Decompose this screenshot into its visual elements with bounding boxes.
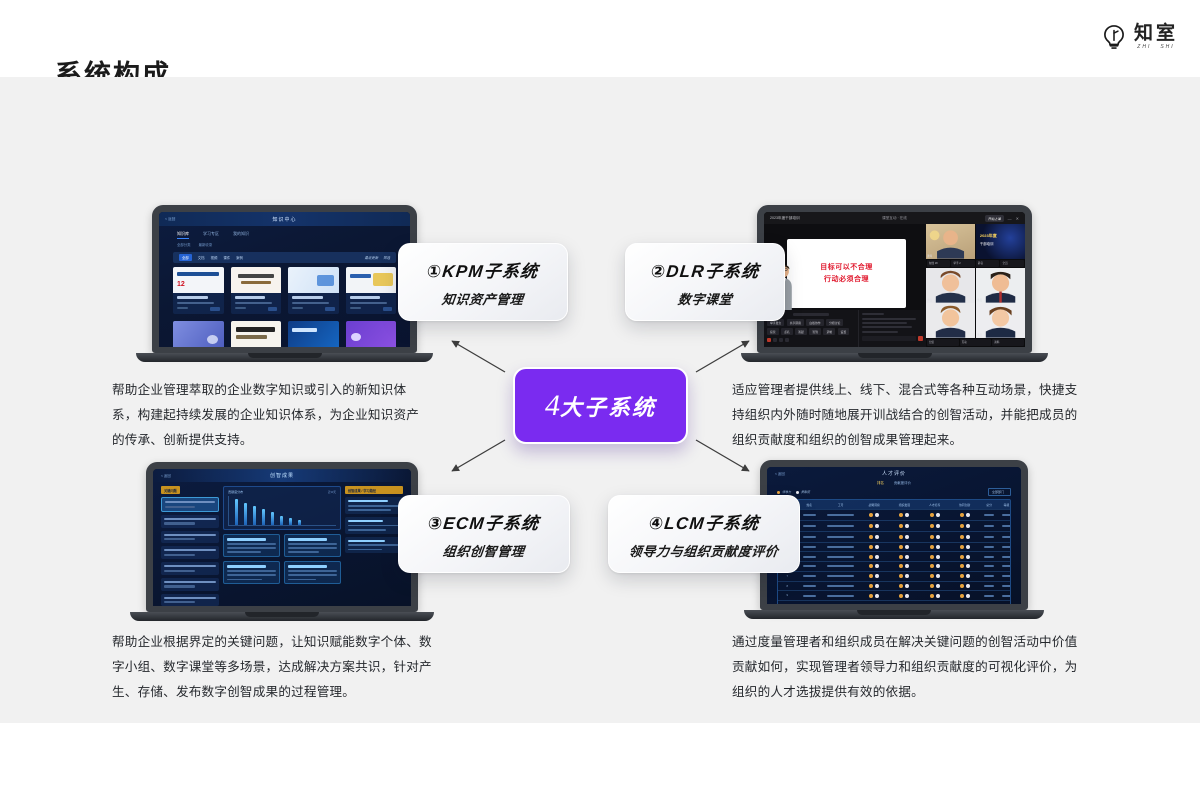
ecm-bar [253, 506, 256, 525]
lcm-table: 排名 姓名 工号 战略洞察 组织发展 人才培养 协同创新 总分 等级 45678… [777, 499, 1011, 610]
lcm-total-cell [980, 543, 999, 552]
center-badge-number: 4 [545, 389, 560, 422]
leadership-dot [960, 524, 964, 528]
contribution-dot [875, 564, 879, 568]
kpm-subtab-0[interactable]: 全部分类 [177, 242, 191, 247]
lcm-col-5: 人才培养 [919, 500, 949, 509]
ecm-result-card[interactable] [223, 534, 280, 557]
lcm-col-2: 工号 [822, 500, 859, 509]
ecm-right-item[interactable] [345, 537, 403, 554]
kpm-filter-chip-0[interactable]: 全部 [179, 254, 192, 261]
leadership-dot [899, 524, 903, 528]
kpm-filter-chip-1[interactable]: 文档 [198, 255, 205, 260]
record-icon[interactable] [767, 338, 771, 342]
laptop-lcm-lid: < 返回 人才评价 排名 贡献度评价 领导力 贡献度 全部部 [760, 460, 1028, 610]
brand-pinyin-right: SHI [1160, 45, 1174, 50]
contribution-dot [875, 584, 879, 588]
kpm-filter-chip-2[interactable]: 视频 [211, 255, 218, 260]
lcm-grade-cell [998, 591, 1011, 600]
lcm-name-cell [797, 562, 823, 571]
brand-name: 知室 [1134, 24, 1178, 43]
lcm-subnav: 排名 贡献度评价 [767, 480, 1021, 488]
lcm-rank-cell: 8 [778, 582, 797, 591]
leadership-dot [930, 535, 934, 539]
participant-name: 学员 [977, 298, 982, 302]
kpm-card[interactable] [288, 267, 339, 314]
lcm-id-cell [822, 591, 859, 600]
kpm-card-thumb: 12 [173, 267, 224, 293]
ecm-window-title: 创智成果 [270, 472, 294, 479]
kpm-card-thumb [173, 321, 224, 347]
dlr-footer-item[interactable]: 互动 [960, 339, 992, 346]
contribution-dot [875, 513, 879, 517]
dlr-footer-item[interactable]: 分组 [927, 339, 959, 346]
kpm-filter-bar: 全部 文档 视频 课件 案例 最近更新 筛选 [173, 252, 396, 263]
contribution-dot [966, 535, 970, 539]
lcm-total-cell [980, 562, 999, 571]
laptop-ecm-base [130, 612, 434, 621]
dlr-strip-item: 全员 [1000, 260, 1024, 267]
contribution-dot [936, 513, 940, 517]
ecm-titlebar: < 返回 创智成果 [153, 469, 411, 482]
lcm-score-cell [919, 591, 949, 600]
kpm-card-thumb [346, 267, 397, 293]
contribution-dot [966, 545, 970, 549]
leadership-dot [930, 584, 934, 588]
participant-name: 学员 [927, 333, 932, 337]
kpm-card[interactable] [231, 321, 282, 353]
dlr-center-label: 课堂互动 · 在线 [882, 216, 907, 221]
laptop-kpm-lid: < 返回 知识中心 知识库 学习专区 我的知识 全部分类 最新收录 全部 文档 … [152, 205, 417, 353]
dlr-chip-7[interactable]: 签到 [809, 328, 821, 335]
lightbulb-icon [1101, 24, 1127, 50]
lcm-table-body: 45678910 [778, 509, 1010, 610]
dlr-chip-4[interactable]: 投票 [767, 328, 779, 335]
ecm-problem-item[interactable] [161, 594, 219, 607]
leadership-dot [960, 545, 964, 549]
label-card-lcm-index: ④ [647, 514, 665, 533]
camera-icon[interactable] [779, 338, 783, 342]
leadership-dot [930, 545, 934, 549]
dlr-chip-2[interactable]: 白板协作 [806, 319, 823, 326]
lcm-score-cell [950, 521, 980, 531]
ecm-main-column: 贡献度分布 近30天 [223, 486, 341, 602]
brand-pinyin-left: ZHI [1137, 45, 1151, 50]
label-card-kpm-title: ①KPM子系统 [426, 257, 540, 282]
leadership-dot [930, 564, 934, 568]
dlr-chip-8[interactable]: 录制 [823, 328, 835, 335]
kpm-tab-0[interactable]: 知识库 [177, 231, 189, 239]
center-badge: 4大子系统 [513, 367, 688, 444]
dlr-slide: 目标可以不合理 行动必须合理 [787, 239, 907, 308]
ecm-problem-item[interactable] [161, 546, 219, 559]
leadership-dot [930, 594, 934, 598]
minimize-icon[interactable]: — [1008, 216, 1012, 221]
lcm-score-cell [950, 591, 980, 600]
label-card-kpm[interactable]: ①KPM子系统 知识资产管理 [398, 243, 568, 321]
lcm-grade-cell [998, 572, 1011, 581]
leadership-dot [869, 564, 873, 568]
kpm-card[interactable] [173, 321, 224, 353]
leadership-dot [960, 555, 964, 559]
leadership-dot [899, 545, 903, 549]
ecm-result-card[interactable] [284, 534, 341, 557]
ecm-chart-panel: 贡献度分布 近30天 [223, 486, 341, 530]
lcm-score-cell [950, 532, 980, 542]
lcm-score-cell [859, 543, 889, 552]
kpm-sort-option[interactable]: 最近更新 [365, 255, 379, 260]
kpm-card[interactable] [346, 267, 397, 314]
contribution-dot [875, 604, 879, 608]
label-card-ecm-title: ③ECM子系统 [427, 509, 541, 534]
slide-root: 系统构成 知室 ZHI SHI [0, 0, 1200, 800]
ecm-problem-item[interactable] [161, 562, 219, 575]
lcm-score-cell [859, 562, 889, 571]
kpm-subtab-1[interactable]: 最新收录 [199, 242, 213, 247]
contribution-dot [936, 564, 940, 568]
label-card-ecm-code: ECM子系统 [443, 514, 541, 533]
lcm-id-cell [822, 552, 859, 561]
lcm-score-cell [919, 582, 949, 591]
participant-tile[interactable]: 学员 [976, 303, 1025, 338]
label-card-lcm-code: LCM子系统 [663, 514, 760, 533]
leadership-dot [899, 535, 903, 539]
kpm-card-thumb [346, 321, 397, 347]
ecm-result-cards [223, 534, 341, 584]
leadership-dot [869, 535, 873, 539]
leadership-dot [899, 604, 903, 608]
contribution-dot [966, 555, 970, 559]
contribution-dot [936, 574, 940, 578]
lcm-name-cell [797, 543, 823, 552]
description-bottom-right: 通过度量管理者和组织成员在解决关键问题的创智活动中价值贡献如何，实现管理者领导力… [732, 630, 1084, 706]
ecm-right-item[interactable] [345, 517, 403, 534]
ecm-columns: 关键问题 贡献度分布 近30天 [153, 482, 411, 606]
lcm-score-cell [919, 543, 949, 552]
leadership-dot [930, 524, 934, 528]
screen-dlr: 2023年度干部培训 课堂互动 · 在线 开始上课 — ✕ 目标可以不合理 行动… [764, 212, 1025, 347]
lcm-id-cell [822, 543, 859, 552]
ecm-right-item[interactable] [345, 497, 403, 514]
laptop-lcm: < 返回 人才评价 排名 贡献度评价 领导力 贡献度 全部部 [760, 460, 1028, 619]
laptop-kpm: < 返回 知识中心 知识库 学习专区 我的知识 全部分类 最新收录 全部 文档 … [152, 205, 417, 362]
lcm-total-cell [980, 521, 999, 531]
dlr-strip-item: 在线 18 [927, 260, 951, 267]
participant-tile[interactable]: 学员 [976, 268, 1025, 303]
leadership-dot [869, 524, 873, 528]
lcm-score-cell [889, 572, 919, 581]
lcm-table-row[interactable]: 10 [778, 600, 1010, 610]
contribution-dot [966, 564, 970, 568]
dlr-action-button[interactable]: 开始上课 [985, 215, 1004, 222]
lcm-col-6: 协同创新 [950, 500, 980, 509]
lcm-total-cell [980, 582, 999, 591]
contribution-dot [905, 564, 909, 568]
screen-kpm: < 返回 知识中心 知识库 学习专区 我的知识 全部分类 最新收录 全部 文档 … [159, 212, 410, 347]
ecm-problem-item[interactable] [161, 578, 219, 591]
laptop-ecm: < 返回 创智成果 关键问题 [146, 462, 418, 621]
contribution-dot [905, 555, 909, 559]
leadership-dot [930, 574, 934, 578]
lcm-grade-cell [998, 532, 1011, 542]
leadership-dot [869, 604, 873, 608]
close-icon[interactable]: ✕ [1016, 216, 1019, 221]
label-card-kpm-code: KPM子系统 [442, 262, 540, 281]
leadership-dot [960, 574, 964, 578]
leadership-dot [960, 604, 964, 608]
contribution-dot [966, 524, 970, 528]
kpm-window-title: 知识中心 [272, 216, 296, 223]
dlr-chip-1[interactable]: 共享屏幕 [787, 319, 804, 326]
lcm-name-cell [797, 510, 823, 520]
ecm-problem-item[interactable] [161, 515, 219, 528]
label-card-ecm[interactable]: ③ECM子系统 组织创智管理 [398, 495, 570, 573]
contribution-dot [875, 545, 879, 549]
dlr-toolbar: 举手发言 共享屏幕 白板协作 分组讨论 投票 点名 答疑 签到 录制 设置 [764, 310, 926, 347]
lcm-table-row[interactable] [778, 520, 1010, 531]
kpm-tabs: 知识库 学习专区 我的知识 [159, 226, 410, 242]
mic-icon[interactable] [773, 338, 777, 342]
ecm-chart-range: 近30天 [328, 490, 336, 494]
lcm-table-header: 排名 姓名 工号 战略洞察 组织发展 人才培养 协同创新 总分 等级 [778, 500, 1010, 509]
laptop-lcm-base [744, 610, 1044, 619]
lcm-score-cell [950, 543, 980, 552]
lcm-score-cell [889, 562, 919, 571]
dlr-chip-5[interactable]: 点名 [781, 328, 793, 335]
ecm-bar [298, 520, 301, 525]
lcm-score-cell [950, 552, 980, 561]
leadership-dot [869, 513, 873, 517]
ecm-left-tag: 关键问题 [161, 486, 180, 494]
leadership-dot [930, 604, 934, 608]
lcm-total-cell [980, 572, 999, 581]
lcm-total-cell [980, 601, 999, 610]
brand-pinyin: ZHI SHI [1137, 45, 1174, 50]
contribution-dot [936, 594, 940, 598]
lcm-back-link[interactable]: < 返回 [775, 471, 785, 476]
leadership-dot [930, 513, 934, 517]
lcm-score-cell [859, 510, 889, 520]
lcm-table-row[interactable]: 5 [778, 551, 1010, 561]
lcm-name-cell [797, 582, 823, 591]
lcm-id-cell [822, 601, 859, 610]
lcm-score-cell [859, 591, 889, 600]
leadership-dot [869, 545, 873, 549]
dlr-name-strip: 在线 18 举手 2 静音 全员 [926, 259, 1025, 268]
contribution-dot [905, 545, 909, 549]
ecm-result-card[interactable] [284, 561, 341, 584]
ecm-bar-chart [228, 496, 336, 526]
ecm-chart-title: 贡献度分布 [228, 490, 243, 494]
label-card-ecm-subtitle: 组织创智管理 [442, 541, 526, 560]
lcm-id-cell [822, 532, 859, 542]
lcm-score-cell [919, 562, 949, 571]
contribution-dot [875, 574, 879, 578]
contribution-dot [875, 524, 879, 528]
kpm-filter-chip-4[interactable]: 案例 [236, 255, 243, 260]
lcm-id-cell [822, 510, 859, 520]
send-icon[interactable] [918, 336, 923, 341]
lcm-rank-cell: 10 [778, 601, 797, 610]
contribution-dot [936, 524, 940, 528]
brand-logo: 知室 ZHI SHI [1101, 24, 1178, 50]
label-card-dlr-code: DLR子系统 [665, 262, 760, 281]
contribution-dot [905, 604, 909, 608]
brand-wordmark: 知室 ZHI SHI [1134, 24, 1178, 50]
kpm-card-thumb [231, 321, 282, 347]
dlr-footer-item[interactable]: 资料 [992, 339, 1024, 346]
dlr-strip-item: 静音 [976, 260, 1000, 267]
dlr-slide-line1: 目标可以不合理 [820, 262, 873, 272]
leadership-dot [899, 594, 903, 598]
lcm-table-row[interactable]: 9 [778, 590, 1010, 600]
lcm-rank-cell: 7 [778, 572, 797, 581]
dlr-chat-panel [858, 310, 926, 347]
dlr-footer-strip: 分组 互动 资料 [926, 338, 1025, 347]
lcm-table-row[interactable]: 6 [778, 561, 1010, 571]
lcm-name-cell [797, 572, 823, 581]
kpm-card[interactable]: 12 [173, 267, 224, 314]
leadership-dot [930, 555, 934, 559]
leadership-dot [869, 555, 873, 559]
ecm-bar [244, 503, 247, 525]
lcm-score-cell [889, 543, 919, 552]
leadership-dot [869, 584, 873, 588]
kpm-filter-chip-3[interactable]: 课件 [223, 255, 230, 260]
lcm-table-row[interactable]: 4 [778, 542, 1010, 552]
dlr-chat-input[interactable] [862, 336, 916, 341]
label-card-lcm-subtitle: 领导力与组织贡献度评价 [628, 541, 780, 560]
leadership-dot [899, 513, 903, 517]
lcm-id-cell [822, 582, 859, 591]
lcm-score-cell [919, 521, 949, 531]
lcm-name-cell [797, 521, 823, 531]
lcm-score-cell [859, 582, 889, 591]
lcm-rank-cell: 9 [778, 591, 797, 600]
kpm-filter-option[interactable]: 筛选 [383, 255, 390, 260]
contribution-dot [966, 604, 970, 608]
ecm-back-link[interactable]: < 返回 [161, 473, 171, 478]
contribution-dot [966, 574, 970, 578]
participant-tile[interactable]: 学员 [926, 268, 975, 303]
dlr-chip-row: 举手发言 共享屏幕 白板协作 分组讨论 投票 点名 答疑 签到 录制 设置 [767, 319, 855, 335]
contribution-dot [966, 584, 970, 588]
leadership-dot [960, 594, 964, 598]
kpm-card[interactable] [346, 321, 397, 353]
dlr-banner: 2023年度 干部培训 [976, 224, 1025, 259]
label-card-dlr-index: ② [649, 262, 667, 281]
kpm-card-grid: 12 [159, 267, 410, 353]
leadership-dot [899, 555, 903, 559]
kpm-card-thumb [288, 267, 339, 293]
ecm-bar [280, 516, 283, 525]
dlr-titlebar: 2023年度干部培训 课堂互动 · 在线 开始上课 — ✕ [764, 212, 1025, 224]
lcm-col-8: 等级 [998, 500, 1011, 509]
dlr-chip-6[interactable]: 答疑 [795, 328, 807, 335]
label-card-kpm-subtitle: 知识资产管理 [441, 289, 525, 308]
lcm-grade-cell [998, 552, 1011, 561]
kpm-tab-1[interactable]: 学习专区 [203, 231, 219, 239]
lcm-id-cell [822, 521, 859, 531]
lcm-table-row[interactable]: 7 [778, 571, 1010, 581]
participant-tile[interactable]: 学员 [926, 303, 975, 338]
dlr-strip-item: 举手 2 [951, 260, 975, 267]
lcm-score-cell [919, 572, 949, 581]
label-card-lcm[interactable]: ④LCM子系统 领导力与组织贡献度评价 [608, 495, 800, 573]
lcm-score-cell [919, 510, 949, 520]
dlr-chip-3[interactable]: 分组讨论 [826, 319, 843, 326]
lcm-name-cell [797, 532, 823, 542]
lcm-grade-cell [998, 510, 1011, 520]
share-icon[interactable] [785, 338, 789, 342]
lcm-legend-0: 领导力 [777, 490, 791, 494]
lcm-table-row[interactable] [778, 531, 1010, 542]
laptop-kpm-base [136, 353, 433, 362]
lcm-grade-cell [998, 601, 1011, 610]
lcm-score-cell [919, 532, 949, 542]
lcm-score-cell [859, 521, 889, 531]
lcm-score-cell [950, 510, 980, 520]
contribution-dot [936, 535, 940, 539]
lcm-subnav-0[interactable]: 排名 [877, 480, 884, 485]
label-card-dlr[interactable]: ②DLR子系统 数字课堂 [625, 243, 785, 321]
lcm-grade-cell [998, 582, 1011, 591]
dlr-banner-title: 2023年度 [980, 233, 997, 239]
leadership-dot [960, 513, 964, 517]
lcm-table-row[interactable] [778, 509, 1010, 520]
description-top-left: 帮助企业管理萃取的企业数字知识或引入的新知识体系，构建起持续发展的企业知识体系，… [112, 378, 430, 454]
label-card-lcm-title: ④LCM子系统 [647, 509, 760, 534]
dlr-banner-subtitle: 干部培训 [980, 241, 994, 246]
lcm-total-cell [980, 510, 999, 520]
contribution-dot [966, 594, 970, 598]
lcm-score-cell [889, 532, 919, 542]
lcm-score-cell [950, 582, 980, 591]
kpm-card[interactable] [231, 267, 282, 314]
lcm-score-cell [859, 601, 889, 610]
ecm-result-card[interactable] [223, 561, 280, 584]
screen-ecm: < 返回 创智成果 关键问题 [153, 469, 411, 606]
kpm-card-thumb [231, 267, 282, 293]
contribution-dot [875, 594, 879, 598]
lcm-table-row[interactable]: 8 [778, 581, 1010, 591]
leadership-dot [869, 594, 873, 598]
participant-tile[interactable]: 讲师 [926, 224, 975, 259]
kpm-card-thumb [288, 321, 339, 347]
kpm-subtabs: 全部分类 最新收录 [159, 242, 410, 250]
kpm-tab-2[interactable]: 我的知识 [233, 231, 249, 239]
kpm-titlebar: < 返回 知识中心 [159, 212, 410, 226]
dlr-chip-9[interactable]: 设置 [838, 328, 850, 335]
kpm-back-link[interactable]: < 返回 [165, 217, 175, 222]
leadership-dot [960, 564, 964, 568]
contribution-dot [936, 545, 940, 549]
lcm-grade-cell [998, 562, 1011, 571]
ecm-problem-item[interactable] [161, 497, 219, 512]
lcm-total-cell [980, 591, 999, 600]
lcm-grade-cell [998, 543, 1011, 552]
center-badge-text: 4大子系统 [545, 389, 656, 423]
lcm-score-cell [950, 572, 980, 581]
lcm-subnav-1[interactable]: 贡献度评价 [894, 480, 911, 485]
kpm-card[interactable] [288, 321, 339, 353]
center-badge-label: 大子系统 [560, 395, 656, 420]
lcm-legend-1: 贡献度 [796, 490, 810, 494]
contribution-dot [905, 584, 909, 588]
lcm-department-select[interactable]: 全部部门 [988, 488, 1011, 496]
ecm-problem-item[interactable] [161, 531, 219, 544]
dlr-participants: 讲师 2023年度 干部培训 在线 18 举手 2 静音 全员 [926, 224, 1025, 347]
